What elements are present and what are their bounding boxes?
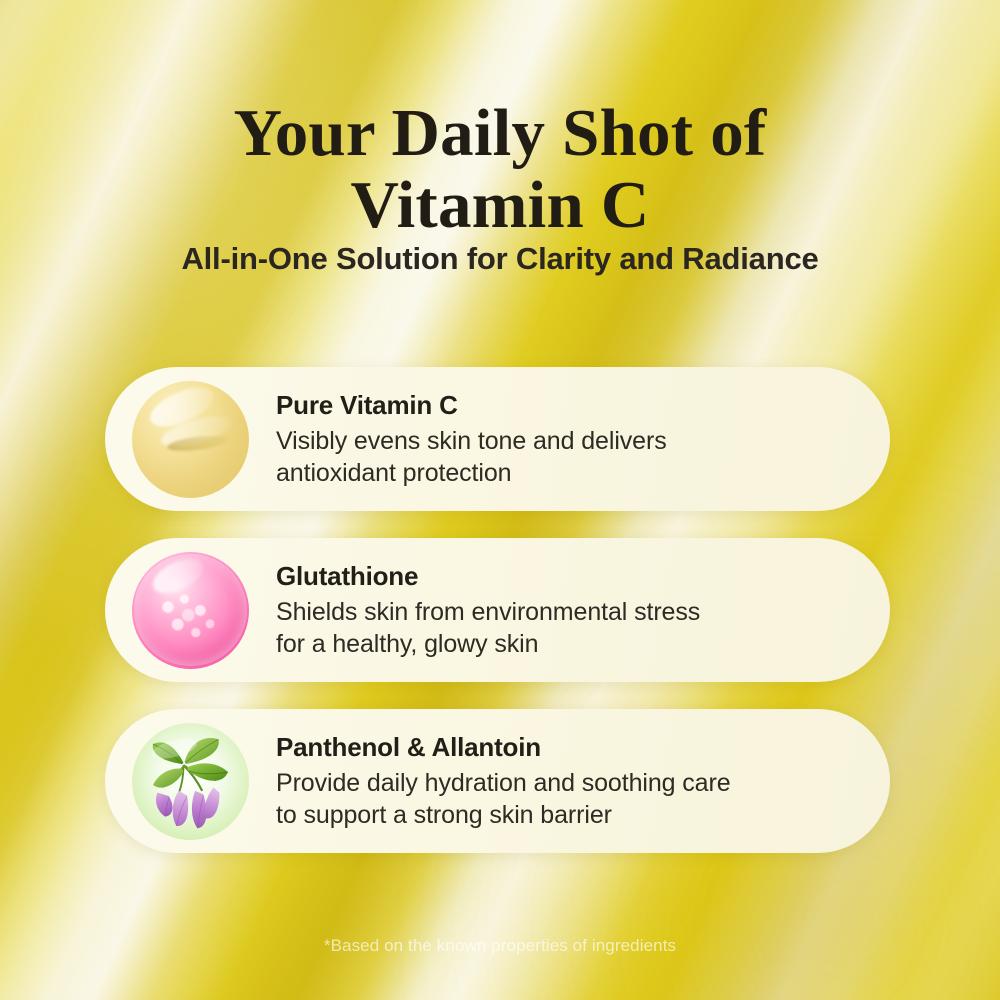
- ingredient-card-glutathione[interactable]: Glutathione Shields skin from environmen…: [105, 538, 890, 682]
- card-text-block: Glutathione Shields skin from environmen…: [276, 560, 700, 660]
- card-title: Glutathione: [276, 560, 700, 593]
- ingredient-card-list: Pure Vitamin C Visibly evens skin tone a…: [105, 367, 890, 853]
- panthenol-allantoin-comfrey-plant-icon: [132, 723, 249, 840]
- card-title: Pure Vitamin C: [276, 389, 667, 422]
- page-title: Your Daily Shot of Vitamin C: [0, 97, 1000, 242]
- vitamin-c-gel-swatch-icon: [132, 381, 249, 498]
- promo-canvas: Your Daily Shot of Vitamin C All-in-One …: [0, 0, 1000, 1000]
- card-text-block: Pure Vitamin C Visibly evens skin tone a…: [276, 389, 667, 489]
- card-description: Visibly evens skin tone and delivers ant…: [276, 425, 667, 489]
- card-title: Panthenol & Allantoin: [276, 731, 731, 764]
- card-description: Provide daily hydration and soothing car…: [276, 767, 731, 831]
- ingredient-card-vitamin-c[interactable]: Pure Vitamin C Visibly evens skin tone a…: [105, 367, 890, 511]
- ingredient-card-panthenol-allantoin[interactable]: Panthenol & Allantoin Provide daily hydr…: [105, 709, 890, 853]
- glutathione-pink-gel-swatch-icon: [132, 552, 249, 669]
- page-subtitle: All-in-One Solution for Clarity and Radi…: [0, 241, 1000, 277]
- card-text-block: Panthenol & Allantoin Provide daily hydr…: [276, 731, 731, 831]
- disclaimer-text: *Based on the known properties of ingred…: [0, 936, 1000, 956]
- card-description: Shields skin from environmental stress f…: [276, 596, 700, 660]
